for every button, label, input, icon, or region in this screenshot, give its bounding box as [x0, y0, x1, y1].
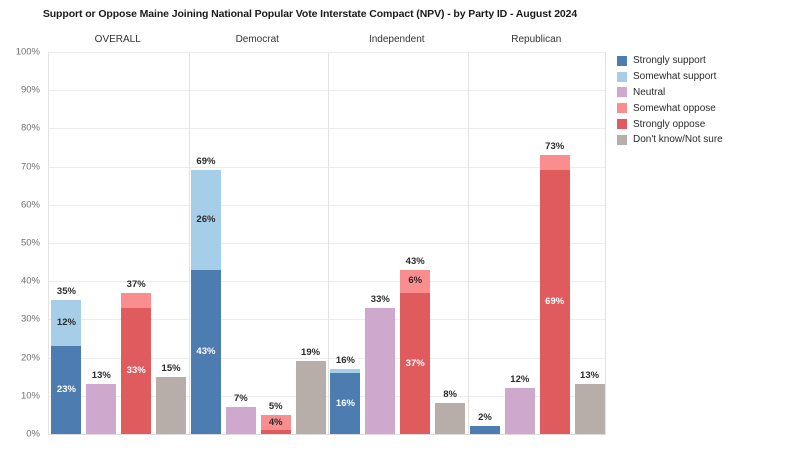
bar-segment-somewhat_oppose[interactable]: [540, 155, 570, 170]
bar-republican-dont-know[interactable]: 13%: [575, 53, 605, 434]
segment-value-label: 33%: [127, 366, 146, 376]
bar-total-label: 33%: [371, 294, 390, 305]
y-axis-tick-100: 100%: [0, 47, 40, 58]
y-axis-tick-40: 40%: [0, 276, 40, 287]
bar-segment-neutral[interactable]: [365, 308, 395, 434]
segment-value-label: 69%: [545, 297, 564, 307]
y-axis-tick-80: 80%: [0, 123, 40, 134]
legend-swatch-icon: [617, 135, 627, 145]
legend-item-label: Strongly oppose: [633, 119, 705, 130]
legend-item-label: Don't know/Not sure: [633, 134, 723, 145]
bar-group-republican: 2%12%69%73%13%: [468, 53, 608, 434]
bar-segment-neutral[interactable]: [86, 384, 116, 434]
bar-segment-strongly_support[interactable]: 16%: [330, 373, 360, 434]
bar-total-label: 15%: [162, 363, 181, 374]
legend-item-strongly-support[interactable]: Strongly support: [617, 53, 785, 69]
bar-segment-neutral[interactable]: [505, 388, 535, 434]
y-axis-tick-30: 30%: [0, 314, 40, 325]
bar-segment-dont_know[interactable]: [435, 403, 465, 434]
legend-item-label: Neutral: [633, 87, 665, 98]
legend-item-somewhat-oppose[interactable]: Somewhat oppose: [617, 100, 785, 116]
segment-value-label: 16%: [336, 399, 355, 409]
bar-segment-strongly_oppose[interactable]: 37%: [400, 293, 430, 434]
legend-item-label: Somewhat support: [633, 71, 716, 82]
bar-total-label: 5%: [269, 401, 283, 412]
group-header-independent: Independent: [327, 34, 467, 50]
y-axis-tick-50: 50%: [0, 238, 40, 249]
bar-total-label: 73%: [545, 141, 564, 152]
bar-segment-strongly_oppose[interactable]: [261, 430, 291, 434]
y-axis-tick-90: 90%: [0, 85, 40, 96]
legend-swatch-icon: [617, 56, 627, 66]
legend-swatch-icon: [617, 103, 627, 113]
gridline-0: [49, 434, 605, 435]
y-axis: 0%10%20%30%40%50%60%70%80%90%100%: [0, 52, 44, 435]
bar-total-label: 16%: [336, 355, 355, 366]
bar-total-label: 35%: [57, 286, 76, 297]
bar-democrat-support[interactable]: 43%26%69%: [191, 53, 221, 434]
bar-democrat-oppose[interactable]: 4%5%: [261, 53, 291, 434]
segment-value-label: 6%: [408, 276, 422, 286]
bar-overall-support[interactable]: 23%12%35%: [51, 53, 81, 434]
legend-item-neutral[interactable]: Neutral: [617, 85, 785, 101]
group-header-democrat: Democrat: [188, 34, 328, 50]
group-header-row: OVERALLDemocratIndependentRepublican: [48, 34, 606, 50]
legend-item-strongly-oppose[interactable]: Strongly oppose: [617, 116, 785, 132]
bar-total-label: 8%: [443, 389, 457, 400]
y-axis-tick-20: 20%: [0, 352, 40, 363]
y-axis-tick-60: 60%: [0, 199, 40, 210]
group-header-overall: OVERALL: [48, 34, 188, 50]
bar-total-label: 37%: [127, 279, 146, 290]
bar-segment-strongly_support[interactable]: 43%: [191, 270, 221, 434]
segment-value-label: 23%: [57, 385, 76, 395]
bar-overall-neutral[interactable]: 13%: [86, 53, 116, 434]
legend-item-label: Somewhat oppose: [633, 103, 716, 114]
chart-title: Support or Oppose Maine Joining National…: [0, 8, 620, 20]
bar-total-label: 12%: [510, 374, 529, 385]
bars-layer: 23%12%35%13%33%37%15%43%26%69%7%4%5%19%1…: [49, 53, 605, 434]
bar-democrat-dont-know[interactable]: 19%: [296, 53, 326, 434]
bar-republican-support[interactable]: 2%: [470, 53, 500, 434]
bar-independent-dont-know[interactable]: 8%: [435, 53, 465, 434]
bar-segment-somewhat_oppose[interactable]: 6%: [400, 270, 430, 293]
bar-overall-dont-know[interactable]: 15%: [156, 53, 186, 434]
bar-group-independent: 16%16%33%37%6%43%8%: [328, 53, 468, 434]
bar-segment-dont_know[interactable]: [575, 384, 605, 434]
y-axis-tick-70: 70%: [0, 161, 40, 172]
bar-total-label: 19%: [301, 347, 320, 358]
segment-value-label: 43%: [196, 347, 215, 357]
legend-item-label: Strongly support: [633, 55, 706, 66]
plot-area: 23%12%35%13%33%37%15%43%26%69%7%4%5%19%1…: [48, 52, 606, 435]
bar-total-label: 7%: [234, 393, 248, 404]
y-axis-tick-0: 0%: [0, 429, 40, 440]
segment-value-label: 4%: [269, 418, 283, 428]
bar-total-label: 2%: [478, 412, 492, 423]
group-header-republican: Republican: [467, 34, 607, 50]
legend-swatch-icon: [617, 87, 627, 97]
bar-group-democrat: 43%26%69%7%4%5%19%: [189, 53, 329, 434]
legend-swatch-icon: [617, 119, 627, 129]
bar-segment-strongly_oppose[interactable]: 69%: [540, 170, 570, 434]
bar-democrat-neutral[interactable]: 7%: [226, 53, 256, 434]
bar-independent-oppose[interactable]: 37%6%43%: [400, 53, 430, 434]
legend-item-dont-know[interactable]: Don't know/Not sure: [617, 132, 785, 148]
bar-segment-dont_know[interactable]: [296, 361, 326, 434]
bar-group-overall: 23%12%35%13%33%37%15%: [49, 53, 189, 434]
legend-item-somewhat-support[interactable]: Somewhat support: [617, 69, 785, 85]
segment-value-label: 37%: [406, 359, 425, 369]
bar-segment-somewhat_support[interactable]: 26%: [191, 170, 221, 269]
bar-total-label: 69%: [196, 156, 215, 167]
segment-value-label: 12%: [57, 318, 76, 328]
bar-segment-somewhat_oppose[interactable]: 4%: [261, 415, 291, 430]
bar-segment-somewhat_support[interactable]: 12%: [51, 300, 81, 346]
bar-segment-strongly_support[interactable]: [470, 426, 500, 434]
bar-total-label: 13%: [92, 370, 111, 381]
bar-total-label: 13%: [580, 370, 599, 381]
bar-independent-neutral[interactable]: 33%: [365, 53, 395, 434]
legend-swatch-icon: [617, 72, 627, 82]
bar-overall-oppose[interactable]: 33%37%: [121, 53, 151, 434]
bar-republican-neutral[interactable]: 12%: [505, 53, 535, 434]
legend: Strongly supportSomewhat supportNeutralS…: [617, 53, 785, 148]
bar-total-label: 43%: [406, 256, 425, 267]
bar-independent-support[interactable]: 16%16%: [330, 53, 360, 434]
y-axis-tick-10: 10%: [0, 390, 40, 401]
bar-segment-strongly_support[interactable]: 23%: [51, 346, 81, 434]
bar-segment-strongly_oppose[interactable]: 33%: [121, 308, 151, 434]
segment-value-label: 26%: [196, 215, 215, 225]
bar-segment-somewhat_oppose[interactable]: [121, 293, 151, 308]
bar-segment-neutral[interactable]: [226, 407, 256, 434]
bar-segment-dont_know[interactable]: [156, 377, 186, 434]
bar-segment-somewhat_support[interactable]: [330, 369, 360, 373]
bar-republican-oppose[interactable]: 69%73%: [540, 53, 570, 434]
